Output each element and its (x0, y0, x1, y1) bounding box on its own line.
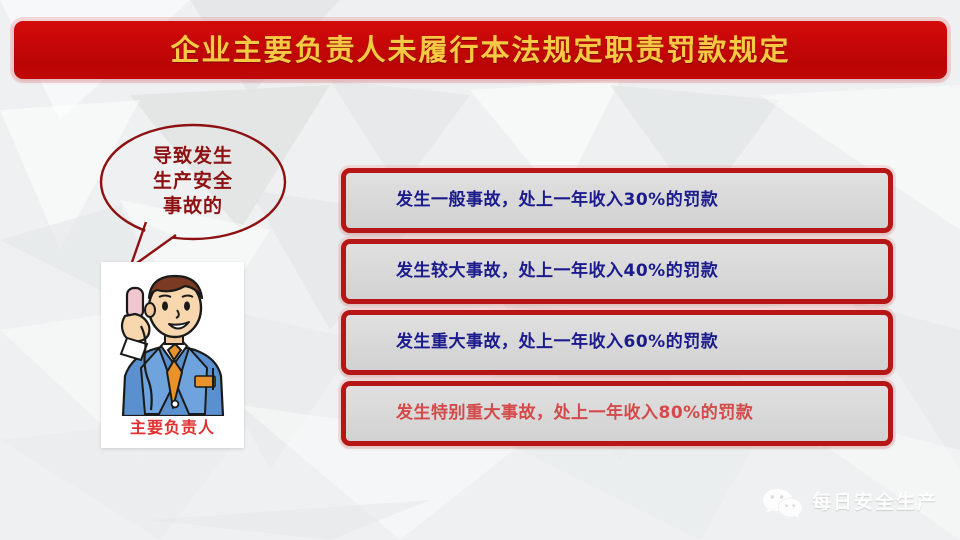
penalty-text-4: 发生特别重大事故，处上一年收入80%的罚款 (346, 405, 753, 422)
penalty-list: 发生一般事故，处上一年收入30%的罚款 发生较大事故，处上一年收入40%的罚款 … (341, 168, 893, 452)
watermark: 每日安全生产 (762, 486, 938, 518)
penalty-text-2: 发生较大事故，处上一年收入40%的罚款 (346, 263, 718, 280)
person-card: 主要负责人 (101, 262, 244, 448)
penalty-box-4[interactable]: 发生特别重大事故，处上一年收入80%的罚款 (341, 381, 893, 446)
penalty-box-1[interactable]: 发生一般事故，处上一年收入30%的罚款 (341, 168, 893, 233)
penalty-text-3: 发生重大事故，处上一年收入60%的罚款 (346, 334, 718, 351)
callout-line-2: 生产安全 (96, 169, 290, 194)
penalty-text-1: 发生一般事故，处上一年收入30%的罚款 (346, 192, 718, 209)
callout-bubble-text: 导致发生 生产安全 事故的 (96, 144, 290, 219)
callout-line-1: 导致发生 (96, 144, 290, 169)
title-banner: 企业主要负责人未履行本法规定职责罚款规定 (14, 21, 947, 79)
person-label: 主要负责人 (101, 414, 244, 438)
businessman-on-phone-icon (101, 264, 244, 416)
watermark-text: 每日安全生产 (812, 493, 938, 512)
callout-bubble: 导致发生 生产安全 事故的 (96, 118, 306, 270)
wechat-icon (762, 486, 802, 518)
callout-line-3: 事故的 (96, 194, 290, 219)
page-title: 企业主要负责人未履行本法规定职责罚款规定 (170, 36, 790, 65)
penalty-box-3[interactable]: 发生重大事故，处上一年收入60%的罚款 (341, 310, 893, 375)
penalty-box-2[interactable]: 发生较大事故，处上一年收入40%的罚款 (341, 239, 893, 304)
slide-root: 企业主要负责人未履行本法规定职责罚款规定 导致发生 生产安全 事故的 (0, 0, 960, 540)
